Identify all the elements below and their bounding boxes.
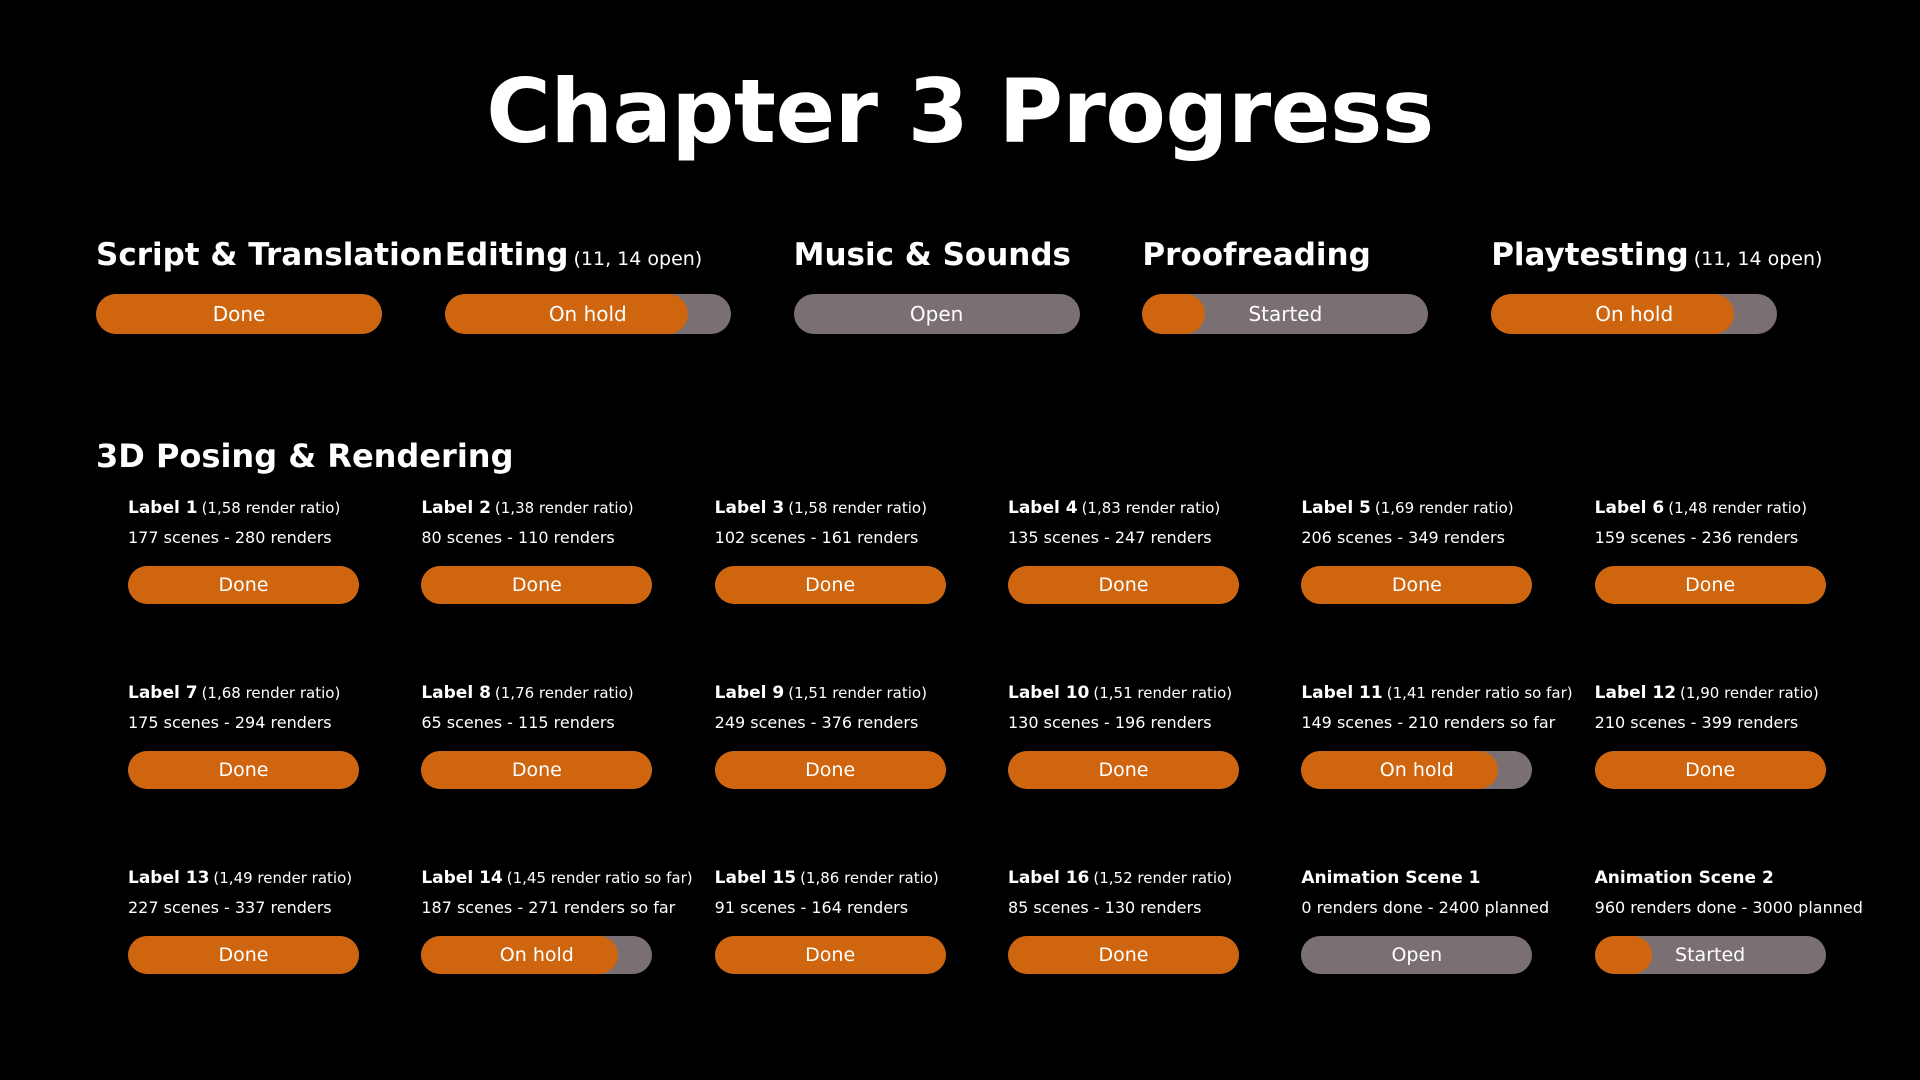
task-detail: 135 scenes - 247 renders [1008,530,1212,548]
status-pill-task-1-5[interactable]: Done [1595,751,1826,789]
task-heading: Label 12(1,90 render ratio) [1595,685,1819,705]
status-pill-task-1-1[interactable]: Done [421,751,652,789]
top-status-title: Proofreading [1142,238,1370,274]
task-heading: Label 2(1,38 render ratio) [421,500,633,520]
status-pill-label: Done [512,576,562,595]
status-pill-fill [1142,294,1205,334]
task-detail: 249 scenes - 376 renders [715,715,919,733]
top-status-cell: Playtesting(11, 14 open)On hold [1491,238,1840,334]
task-grid: Label 1(1,58 render ratio)177 scenes - 2… [128,500,1888,1055]
task-render-ratio: (1,58 render ratio) [202,501,341,516]
top-status-cell: Script & TranslationDone [96,238,445,334]
status-pill-task-2-4[interactable]: Open [1301,936,1532,974]
task-detail: 80 scenes - 110 renders [421,530,614,548]
status-pill-task-0-5[interactable]: Done [1595,566,1826,604]
task-heading: Animation Scene 1 [1301,870,1480,890]
status-pill-label: Done [1098,761,1148,780]
task-cell: Animation Scene 10 renders done - 2400 p… [1301,870,1594,1055]
status-pill-task-1-0[interactable]: Done [128,751,359,789]
status-pill-top-0[interactable]: Done [96,294,382,334]
top-status-heading: Playtesting(11, 14 open) [1491,238,1822,280]
status-pill-top-3[interactable]: Started [1142,294,1428,334]
task-cell: Label 15(1,86 render ratio)91 scenes - 1… [715,870,1008,1055]
task-label: Animation Scene 2 [1595,870,1774,887]
task-heading: Label 14(1,45 render ratio so far) [421,870,692,890]
task-render-ratio: (1,86 render ratio) [800,871,939,886]
task-label: Label 4 [1008,500,1078,517]
task-heading: Label 5(1,69 render ratio) [1301,500,1513,520]
task-label: Label 2 [421,500,491,517]
status-pill-task-0-4[interactable]: Done [1301,566,1532,604]
task-detail: 960 renders done - 3000 planned [1595,900,1863,918]
task-label: Label 15 [715,870,796,887]
task-cell: Label 2(1,38 render ratio)80 scenes - 11… [421,500,714,685]
top-status-cell: Music & SoundsOpen [794,238,1143,334]
task-label: Label 6 [1595,500,1665,517]
task-cell: Label 3(1,58 render ratio)102 scenes - 1… [715,500,1008,685]
top-status-note: (11, 14 open) [574,249,703,271]
task-heading: Label 3(1,58 render ratio) [715,500,927,520]
status-pill-fill [1595,936,1653,974]
status-pill-label: Done [1098,576,1148,595]
task-heading: Label 7(1,68 render ratio) [128,685,340,705]
task-label: Animation Scene 1 [1301,870,1480,887]
task-label: Label 8 [421,685,491,702]
status-pill-task-2-0[interactable]: Done [128,936,359,974]
task-detail: 0 renders done - 2400 planned [1301,900,1549,918]
task-label: Label 12 [1595,685,1676,702]
status-pill-label: Done [805,946,855,965]
task-render-ratio: (1,51 render ratio) [1093,686,1232,701]
task-detail: 210 scenes - 399 renders [1595,715,1799,733]
task-render-ratio: (1,90 render ratio) [1680,686,1819,701]
task-cell: Label 16(1,52 render ratio)85 scenes - 1… [1008,870,1301,1055]
top-status-heading: Script & Translation [96,238,443,280]
top-status-row: Script & TranslationDoneEditing(11, 14 o… [96,238,1840,334]
task-detail: 177 scenes - 280 renders [128,530,332,548]
status-pill-label: Done [219,946,269,965]
task-render-ratio: (1,41 render ratio so far) [1387,686,1573,701]
status-pill-task-2-3[interactable]: Done [1008,936,1239,974]
task-label: Label 10 [1008,685,1089,702]
status-pill-task-0-1[interactable]: Done [421,566,652,604]
task-detail: 227 scenes - 337 renders [128,900,332,918]
top-status-title: Music & Sounds [794,238,1071,274]
task-detail: 149 scenes - 210 renders so far [1301,715,1555,733]
status-pill-task-1-4[interactable]: On hold [1301,751,1532,789]
status-pill-label: Open [1391,946,1442,965]
status-pill-task-1-3[interactable]: Done [1008,751,1239,789]
status-pill-task-2-2[interactable]: Done [715,936,946,974]
status-pill-label: Done [213,304,266,324]
status-pill-task-0-0[interactable]: Done [128,566,359,604]
status-pill-label: Done [805,576,855,595]
task-cell: Label 14(1,45 render ratio so far)187 sc… [421,870,714,1055]
task-detail: 175 scenes - 294 renders [128,715,332,733]
status-pill-label: On hold [549,304,627,324]
task-cell: Label 13(1,49 render ratio)227 scenes - … [128,870,421,1055]
task-cell: Label 10(1,51 render ratio)130 scenes - … [1008,685,1301,870]
status-pill-label: On hold [500,946,574,965]
task-render-ratio: (1,69 render ratio) [1375,501,1514,516]
task-detail: 65 scenes - 115 renders [421,715,614,733]
status-pill-task-1-2[interactable]: Done [715,751,946,789]
task-cell: Label 4(1,83 render ratio)135 scenes - 2… [1008,500,1301,685]
top-status-cell: ProofreadingStarted [1142,238,1491,334]
section-heading: 3D Posing & Rendering [96,437,513,475]
status-pill-label: Done [1392,576,1442,595]
status-pill-top-1[interactable]: On hold [445,294,731,334]
status-pill-label: On hold [1595,304,1673,324]
status-pill-label: Done [219,761,269,780]
task-cell: Label 6(1,48 render ratio)159 scenes - 2… [1595,500,1888,685]
top-status-title: Editing [445,238,569,274]
task-render-ratio: (1,49 render ratio) [213,871,352,886]
task-heading: Label 10(1,51 render ratio) [1008,685,1232,705]
task-detail: 187 scenes - 271 renders so far [421,900,675,918]
page-title: Chapter 3 Progress [0,66,1920,158]
task-heading: Animation Scene 2 [1595,870,1774,890]
task-cell: Label 9(1,51 render ratio)249 scenes - 3… [715,685,1008,870]
task-detail: 130 scenes - 196 renders [1008,715,1212,733]
status-pill-label: Done [512,761,562,780]
task-heading: Label 16(1,52 render ratio) [1008,870,1232,890]
task-cell: Label 11(1,41 render ratio so far)149 sc… [1301,685,1594,870]
status-pill-task-2-1[interactable]: On hold [421,936,652,974]
status-pill-label: Started [1248,304,1322,324]
task-detail: 91 scenes - 164 renders [715,900,908,918]
task-label: Label 13 [128,870,209,887]
task-render-ratio: (1,76 render ratio) [495,686,634,701]
task-cell: Label 5(1,69 render ratio)206 scenes - 3… [1301,500,1594,685]
top-status-title: Playtesting [1491,238,1689,274]
task-label: Label 9 [715,685,785,702]
status-pill-label: Done [1098,946,1148,965]
task-cell: Label 12(1,90 render ratio)210 scenes - … [1595,685,1888,870]
task-label: Label 14 [421,870,502,887]
task-render-ratio: (1,45 render ratio so far) [507,871,693,886]
task-heading: Label 11(1,41 render ratio so far) [1301,685,1572,705]
status-pill-task-2-5[interactable]: Started [1595,936,1826,974]
task-label: Label 5 [1301,500,1371,517]
top-status-title: Script & Translation [96,238,443,274]
task-cell: Animation Scene 2960 renders done - 3000… [1595,870,1888,1055]
task-heading: Label 9(1,51 render ratio) [715,685,927,705]
task-cell: Label 1(1,58 render ratio)177 scenes - 2… [128,500,421,685]
task-label: Label 3 [715,500,785,517]
task-label: Label 1 [128,500,198,517]
task-heading: Label 4(1,83 render ratio) [1008,500,1220,520]
task-render-ratio: (1,83 render ratio) [1082,501,1221,516]
task-detail: 159 scenes - 236 renders [1595,530,1799,548]
status-pill-task-0-3[interactable]: Done [1008,566,1239,604]
task-heading: Label 15(1,86 render ratio) [715,870,939,890]
top-status-cell: Editing(11, 14 open)On hold [445,238,794,334]
status-pill-label: Done [219,576,269,595]
progress-slide: Chapter 3 Progress Script & TranslationD… [0,0,1920,1080]
task-row: Label 13(1,49 render ratio)227 scenes - … [128,870,1888,1055]
status-pill-top-2[interactable]: Open [794,294,1080,334]
task-label: Label 11 [1301,685,1382,702]
task-label: Label 7 [128,685,198,702]
task-heading: Label 1(1,58 render ratio) [128,500,340,520]
top-status-heading: Editing(11, 14 open) [445,238,702,280]
task-row: Label 7(1,68 render ratio)175 scenes - 2… [128,685,1888,870]
task-heading: Label 8(1,76 render ratio) [421,685,633,705]
top-status-heading: Music & Sounds [794,238,1071,280]
task-render-ratio: (1,52 render ratio) [1093,871,1232,886]
task-cell: Label 8(1,76 render ratio)65 scenes - 11… [421,685,714,870]
task-cell: Label 7(1,68 render ratio)175 scenes - 2… [128,685,421,870]
status-pill-label: Open [910,304,963,324]
task-detail: 85 scenes - 130 renders [1008,900,1201,918]
task-render-ratio: (1,48 render ratio) [1668,501,1807,516]
task-heading: Label 6(1,48 render ratio) [1595,500,1807,520]
status-pill-label: Done [805,761,855,780]
task-row: Label 1(1,58 render ratio)177 scenes - 2… [128,500,1888,685]
status-pill-label: Started [1675,946,1745,965]
task-render-ratio: (1,68 render ratio) [202,686,341,701]
status-pill-label: Done [1685,576,1735,595]
task-detail: 206 scenes - 349 renders [1301,530,1505,548]
task-render-ratio: (1,38 render ratio) [495,501,634,516]
status-pill-label: On hold [1380,761,1454,780]
top-status-note: (11, 14 open) [1694,249,1823,271]
status-pill-task-0-2[interactable]: Done [715,566,946,604]
status-pill-label: Done [1685,761,1735,780]
task-render-ratio: (1,51 render ratio) [788,686,927,701]
status-pill-top-4[interactable]: On hold [1491,294,1777,334]
top-status-heading: Proofreading [1142,238,1370,280]
task-label: Label 16 [1008,870,1089,887]
task-detail: 102 scenes - 161 renders [715,530,919,548]
task-render-ratio: (1,58 render ratio) [788,501,927,516]
task-heading: Label 13(1,49 render ratio) [128,870,352,890]
